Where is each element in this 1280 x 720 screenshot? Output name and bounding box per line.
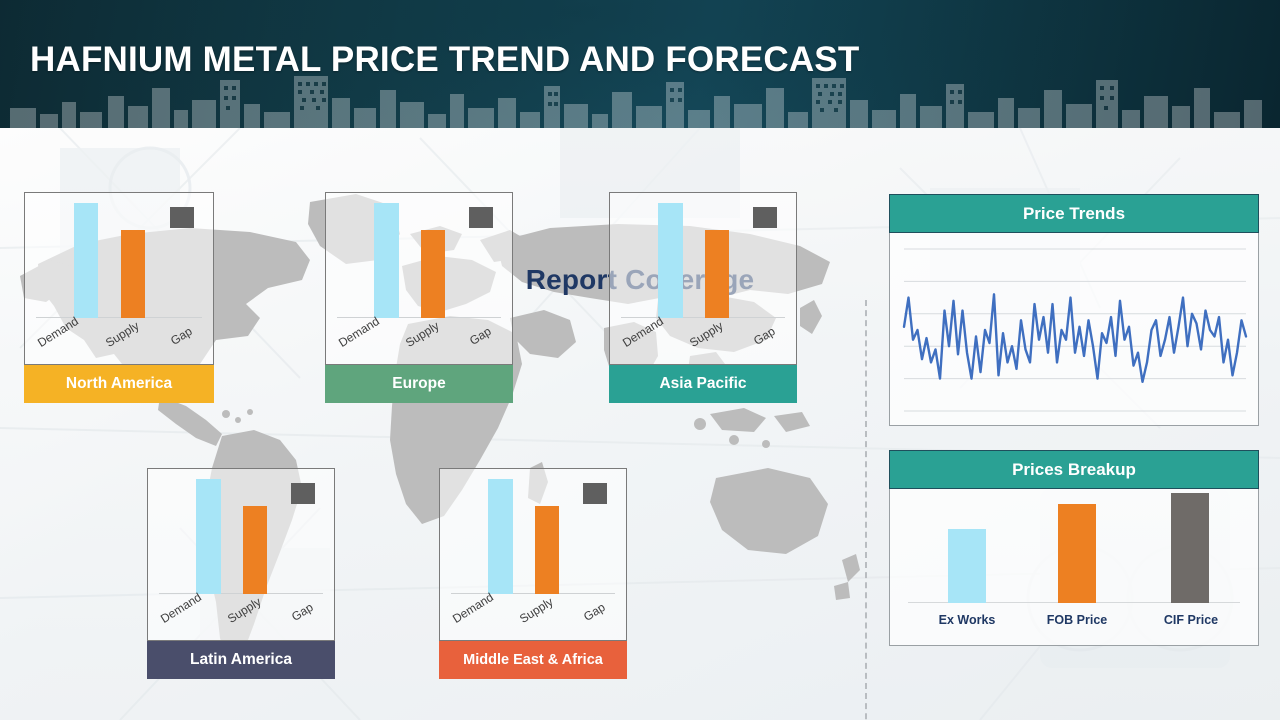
label-cif-price: CIF Price xyxy=(1146,613,1236,627)
bar-gap xyxy=(291,483,315,504)
bar-demand xyxy=(74,203,98,318)
axis-label-gap: Gap xyxy=(467,324,494,348)
region-label-north-america: North America xyxy=(24,365,214,403)
region-card-latin-america[interactable]: Demand Supply Gap Latin America xyxy=(147,468,335,679)
region-chart-north-america: Demand Supply Gap xyxy=(24,192,214,365)
axis-label-demand: Demand xyxy=(620,314,666,350)
panel-title-prices-breakup: Prices Breakup xyxy=(889,450,1259,489)
bar-demand xyxy=(374,203,398,318)
axis-label-gap: Gap xyxy=(581,600,608,624)
axis-label-gap: Gap xyxy=(289,600,316,624)
region-chart-asia-pacific: Demand Supply Gap xyxy=(609,192,797,365)
bar-gap xyxy=(469,207,493,228)
region-card-north-america[interactable]: Demand Supply Gap North America xyxy=(24,192,214,403)
label-ex-works: Ex Works xyxy=(922,613,1012,627)
bar-supply xyxy=(243,506,267,594)
chart-baseline xyxy=(36,317,201,318)
bar-demand xyxy=(196,479,220,594)
header-banner: HAFNIUM METAL PRICE TREND AND FORECAST xyxy=(0,0,1280,128)
chart-baseline xyxy=(159,593,323,594)
bar-supply xyxy=(535,506,559,594)
axis-label-gap: Gap xyxy=(168,324,195,348)
prices-breakup-chart: Ex Works FOB Price CIF Price xyxy=(889,489,1259,646)
bar-gap xyxy=(170,207,194,228)
axis-label-demand: Demand xyxy=(336,314,382,350)
panel-price-trends[interactable]: Price Trends xyxy=(889,194,1259,426)
region-card-asia-pacific[interactable]: Demand Supply Gap Asia Pacific xyxy=(609,192,797,403)
line-chart-svg xyxy=(890,233,1258,425)
region-card-europe[interactable]: Demand Supply Gap Europe xyxy=(325,192,513,403)
chart-baseline xyxy=(451,593,615,594)
bar-fob-price xyxy=(1058,504,1096,603)
bar-cif-price xyxy=(1171,493,1209,603)
region-label-latin-america: Latin America xyxy=(147,641,335,679)
content-area: Report Coverage Demand Supply Gap North … xyxy=(0,128,1280,720)
axis-label-demand: Demand xyxy=(35,314,81,350)
region-chart-middle-east-africa: Demand Supply Gap xyxy=(439,468,627,641)
region-label-asia-pacific: Asia Pacific xyxy=(609,365,797,403)
bar-ex-works xyxy=(948,529,986,603)
axis-label-supply: Supply xyxy=(687,319,726,350)
bar-gap xyxy=(583,483,607,504)
region-label-europe: Europe xyxy=(325,365,513,403)
panel-prices-breakup[interactable]: Prices Breakup Ex Works FOB Price CIF Pr… xyxy=(889,450,1259,646)
axis-label-supply: Supply xyxy=(225,595,264,626)
region-chart-europe: Demand Supply Gap xyxy=(325,192,513,365)
slide-canvas: HAFNIUM METAL PRICE TREND AND FORECAST xyxy=(0,0,1280,720)
bar-demand xyxy=(488,479,512,594)
axis-label-gap: Gap xyxy=(751,324,778,348)
axis-label-demand: Demand xyxy=(450,590,496,626)
region-label-middle-east-africa: Middle East & Africa xyxy=(439,641,627,679)
section-divider xyxy=(865,300,867,720)
bar-supply xyxy=(121,230,145,318)
axis-label-supply: Supply xyxy=(103,319,142,350)
bar-gap xyxy=(753,207,777,228)
bar-supply xyxy=(421,230,445,318)
price-trends-chart xyxy=(889,233,1259,426)
chart-baseline xyxy=(621,317,785,318)
axis-label-demand: Demand xyxy=(158,590,204,626)
axis-label-supply: Supply xyxy=(403,319,442,350)
bar-supply xyxy=(705,230,729,318)
bar-demand xyxy=(658,203,682,318)
region-card-middle-east-africa[interactable]: Demand Supply Gap Middle East & Africa xyxy=(439,468,627,679)
page-title: HAFNIUM METAL PRICE TREND AND FORECAST xyxy=(30,40,859,80)
chart-baseline xyxy=(337,317,501,318)
panel-title-price-trends: Price Trends xyxy=(889,194,1259,233)
region-chart-latin-america: Demand Supply Gap xyxy=(147,468,335,641)
axis-label-supply: Supply xyxy=(517,595,556,626)
label-fob-price: FOB Price xyxy=(1032,613,1122,627)
